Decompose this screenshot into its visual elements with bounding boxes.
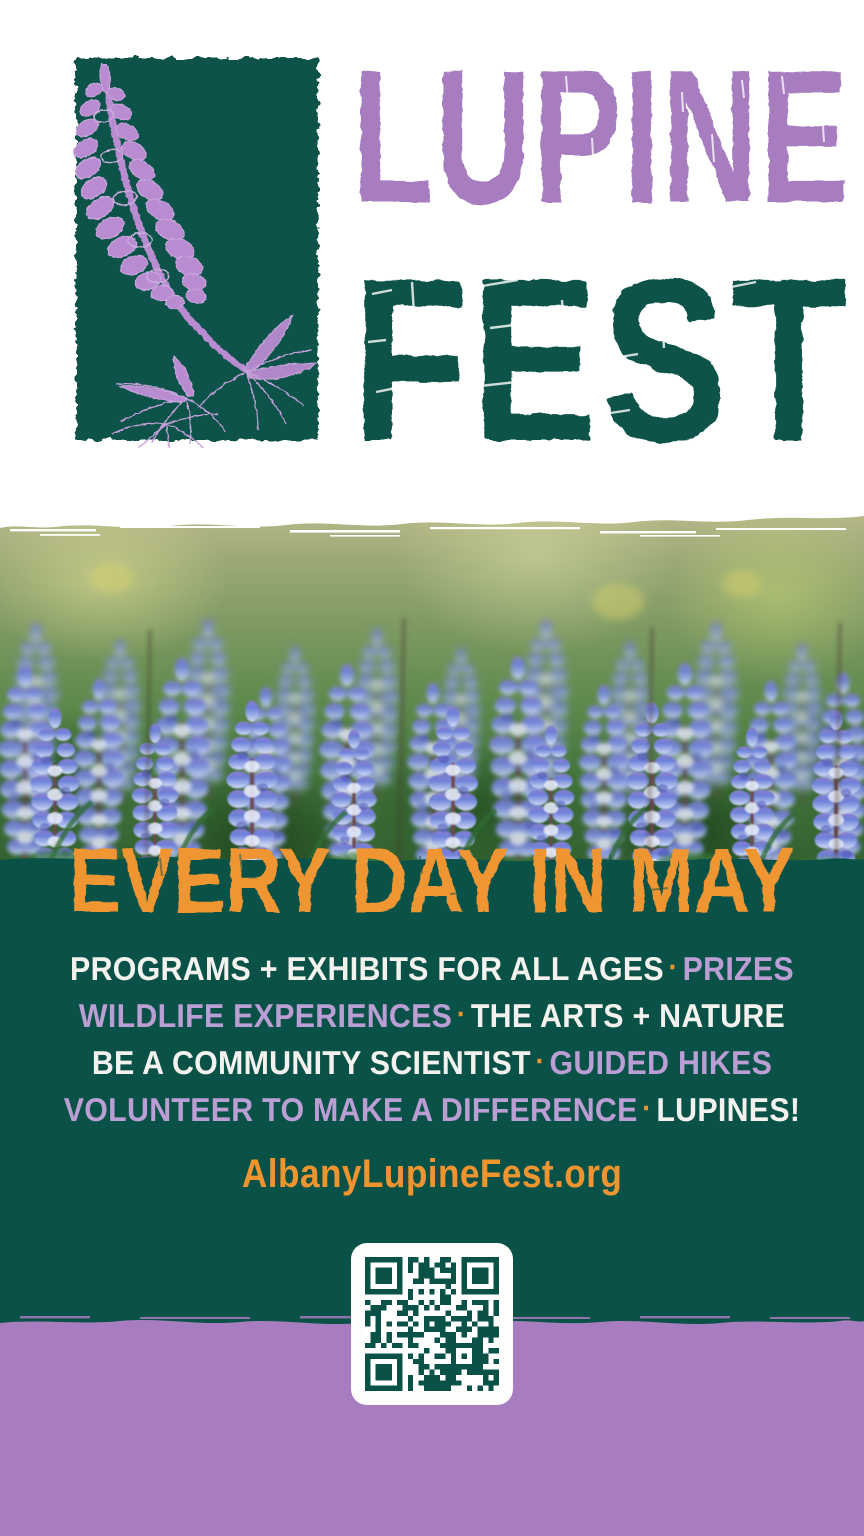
qr-code[interactable] — [351, 1243, 513, 1405]
feature-text: BE A COMMUNITY SCIENTIST — [92, 1044, 531, 1081]
feature-text: THE ARTS + NATURE — [471, 997, 785, 1034]
bullet-separator-icon: · — [638, 1092, 657, 1125]
feature-text: PROGRAMS + EXHIBITS FOR ALL AGES — [70, 950, 664, 987]
feature-line: BE A COMMUNITY SCIENTIST·GUIDED HIKES — [35, 1040, 830, 1087]
bullet-separator-icon: · — [664, 951, 683, 984]
wordmark-line-lupine: LUPINE — [352, 42, 850, 243]
website-url[interactable]: AlbanyLupineFest.org — [0, 1152, 864, 1197]
feature-line: WILDLIFE EXPERIENCES·THE ARTS + NATURE — [35, 993, 830, 1040]
headline-every-day-in-may: EVERY DAY IN MAY — [0, 828, 864, 924]
feature-line: VOLUNTEER TO MAKE A DIFFERENCE·LUPINES! — [35, 1087, 830, 1134]
website-url-text[interactable]: AlbanyLupineFest.org — [242, 1152, 622, 1197]
feature-text: PRIZES — [683, 950, 794, 987]
bullet-separator-icon: · — [531, 1045, 550, 1078]
feature-text: WILDLIFE EXPERIENCES — [79, 997, 452, 1034]
logo-lockup: LUPINE FEST — [0, 0, 864, 500]
lupine-fest-wordmark: LUPINE FEST — [352, 42, 852, 454]
feature-line: PROGRAMS + EXHIBITS FOR ALL AGES·PRIZES — [35, 946, 830, 993]
qr-code-image[interactable] — [365, 1257, 499, 1391]
photo-torn-top-edge — [0, 510, 864, 540]
feature-text: LUPINES! — [656, 1091, 800, 1128]
headline-text: EVERY DAY IN MAY — [69, 830, 795, 924]
lupine-fest-poster: LUPINE FEST — [0, 0, 864, 1536]
feature-text: VOLUNTEER TO MAKE A DIFFERENCE — [64, 1091, 638, 1128]
feature-text: GUIDED HIKES — [550, 1044, 773, 1081]
wordmark-line-fest: FEST — [352, 231, 850, 454]
lupine-flower-illustration-icon — [68, 50, 326, 448]
event-features-list: PROGRAMS + EXHIBITS FOR ALL AGES·PRIZES … — [0, 946, 864, 1134]
bullet-separator-icon: · — [452, 998, 471, 1031]
